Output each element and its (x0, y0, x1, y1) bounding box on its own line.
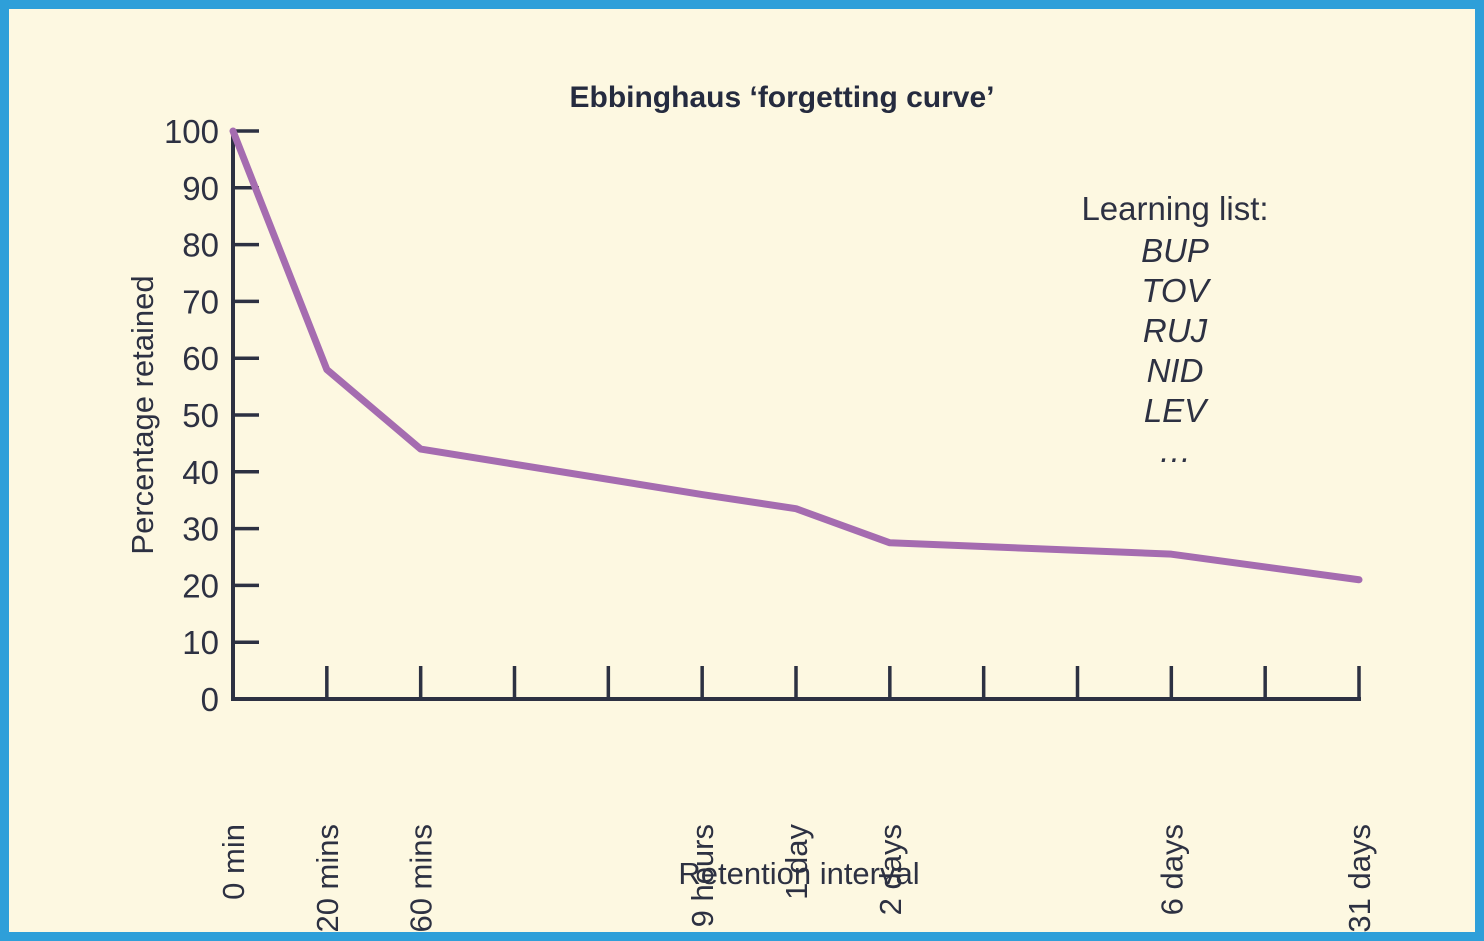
y-axis-tick-label: 70 (182, 283, 219, 320)
y-axis-tick-label: 10 (182, 624, 219, 661)
x-axis-ticks (327, 666, 1265, 699)
y-axis-tick-label: 20 (182, 567, 219, 604)
learning-list-legend: Learning list: BUPTOVRUJNIDLEV… (1081, 190, 1268, 469)
x-axis-tick-label: 20 mins (310, 824, 345, 933)
ebbinghaus-forgetting-curve-chart: Ebbinghaus ‘forgetting curve’ 0102030405… (9, 9, 1484, 941)
x-axis-tick-label: 0 min (216, 824, 251, 900)
learning-list-item: BUP (1141, 232, 1209, 269)
y-axis-tick-labels: 0102030405060708090100 (164, 113, 219, 718)
y-axis-tick-label: 60 (182, 340, 219, 377)
learning-list-item: NID (1147, 352, 1204, 389)
learning-list-item: … (1159, 432, 1192, 469)
y-axis-title: Percentage retained (125, 275, 160, 554)
learning-list-items: BUPTOVRUJNIDLEV… (1141, 232, 1212, 469)
x-axis-tick-label: 60 mins (404, 824, 439, 933)
learning-list-item: TOV (1141, 272, 1211, 309)
y-axis-tick-label: 50 (182, 397, 219, 434)
y-axis-tick-label: 100 (164, 113, 219, 150)
y-axis-tick-label: 0 (201, 681, 219, 718)
figure-container: Ebbinghaus ‘forgetting curve’ 0102030405… (0, 0, 1484, 941)
x-axis-tick-label: 6 days (1154, 824, 1189, 915)
y-axis-tick-label: 80 (182, 227, 219, 264)
x-axis-title: Retention interval (678, 856, 919, 891)
learning-list-item: LEV (1144, 392, 1209, 429)
learning-list-item: RUJ (1143, 312, 1208, 349)
y-axis-tick-label: 30 (182, 511, 219, 548)
chart-title: Ebbinghaus ‘forgetting curve’ (569, 81, 994, 114)
x-axis-tick-label: 31 days (1342, 824, 1377, 933)
y-axis-tick-label: 40 (182, 454, 219, 491)
learning-list-heading: Learning list: (1081, 190, 1268, 227)
y-axis-tick-label: 90 (182, 170, 219, 207)
y-axis-ticks (233, 131, 259, 642)
